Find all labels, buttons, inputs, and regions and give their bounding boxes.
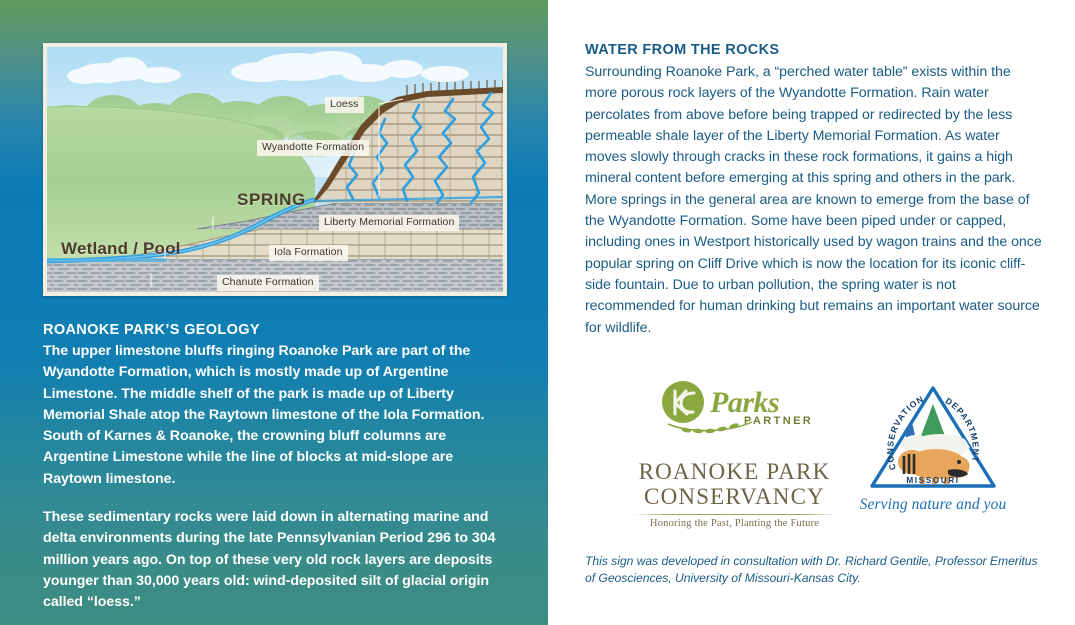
geology-text-block: ROANOKE PARK’S GEOLOGY The upper limesto… <box>43 322 507 614</box>
mdc-logo-stack: CONSERVATION DEPARTMENT MISSOURI Serving… <box>833 378 1033 514</box>
rpc-tagline: Honoring the Past, Planting the Future <box>627 518 842 529</box>
geology-paragraph-2: These sedimentary rocks were laid down i… <box>43 507 507 613</box>
diagram-label-chanute-formation: Chanute Formation <box>217 275 319 291</box>
svg-text:PARTNER: PARTNER <box>744 415 813 427</box>
rpc-line-2: CONSERVANCY <box>627 485 842 510</box>
water-heading: WATER FROM THE ROCKS <box>585 42 1043 58</box>
interpretive-sign: SPRING Wetland / Pool Loess Wyandotte Fo… <box>0 0 1075 625</box>
rpc-divider <box>633 514 836 515</box>
mdc-logo-artwork: CONSERVATION DEPARTMENT MISSOURI <box>864 378 1002 498</box>
diagram-label-liberty-memorial-formation: Liberty Memorial Formation <box>319 215 459 231</box>
kc-parks-partner-logo: Parks PARTNER <box>652 378 817 438</box>
rpc-line-1: ROANOKE PARK <box>627 460 842 485</box>
water-paragraph: Surrounding Roanoke Park, a “perched wat… <box>585 62 1043 339</box>
geology-cross-section: SPRING Wetland / Pool Loess Wyandotte Fo… <box>47 47 503 292</box>
credit-line: This sign was developed in consultation … <box>585 553 1045 586</box>
diagram-label-wetland-pool: Wetland / Pool <box>61 239 181 259</box>
diagram-label-iola-formation: Iola Formation <box>269 245 348 261</box>
geology-diagram-frame: SPRING Wetland / Pool Loess Wyandotte Fo… <box>43 43 507 296</box>
geology-paragraph-1: The upper limestone bluffs ringing Roano… <box>43 341 507 490</box>
water-text-block: WATER FROM THE ROCKS Surrounding Roanoke… <box>585 42 1043 339</box>
diagram-label-loess: Loess <box>325 97 364 113</box>
missouri-department-of-conservation-logo: CONSERVATION DEPARTMENT MISSOURI <box>864 378 1002 498</box>
geology-heading: ROANOKE PARK’S GEOLOGY <box>43 322 507 338</box>
logo-row: Parks PARTNER ROANOKE PARK CON <box>585 378 1043 528</box>
kc-parks-logo-artwork: Parks PARTNER <box>652 378 817 438</box>
mdc-base-text: MISSOURI <box>906 476 959 485</box>
roanoke-park-conservancy-logo: ROANOKE PARK CONSERVANCY Honoring the Pa… <box>627 460 842 529</box>
mdc-tagline: Serving nature and you <box>833 496 1033 514</box>
diagram-label-spring: SPRING <box>237 190 306 210</box>
diagram-label-wyandotte-formation: Wyandotte Formation <box>257 140 369 156</box>
partner-logo-stack: Parks PARTNER ROANOKE PARK CON <box>627 378 842 529</box>
